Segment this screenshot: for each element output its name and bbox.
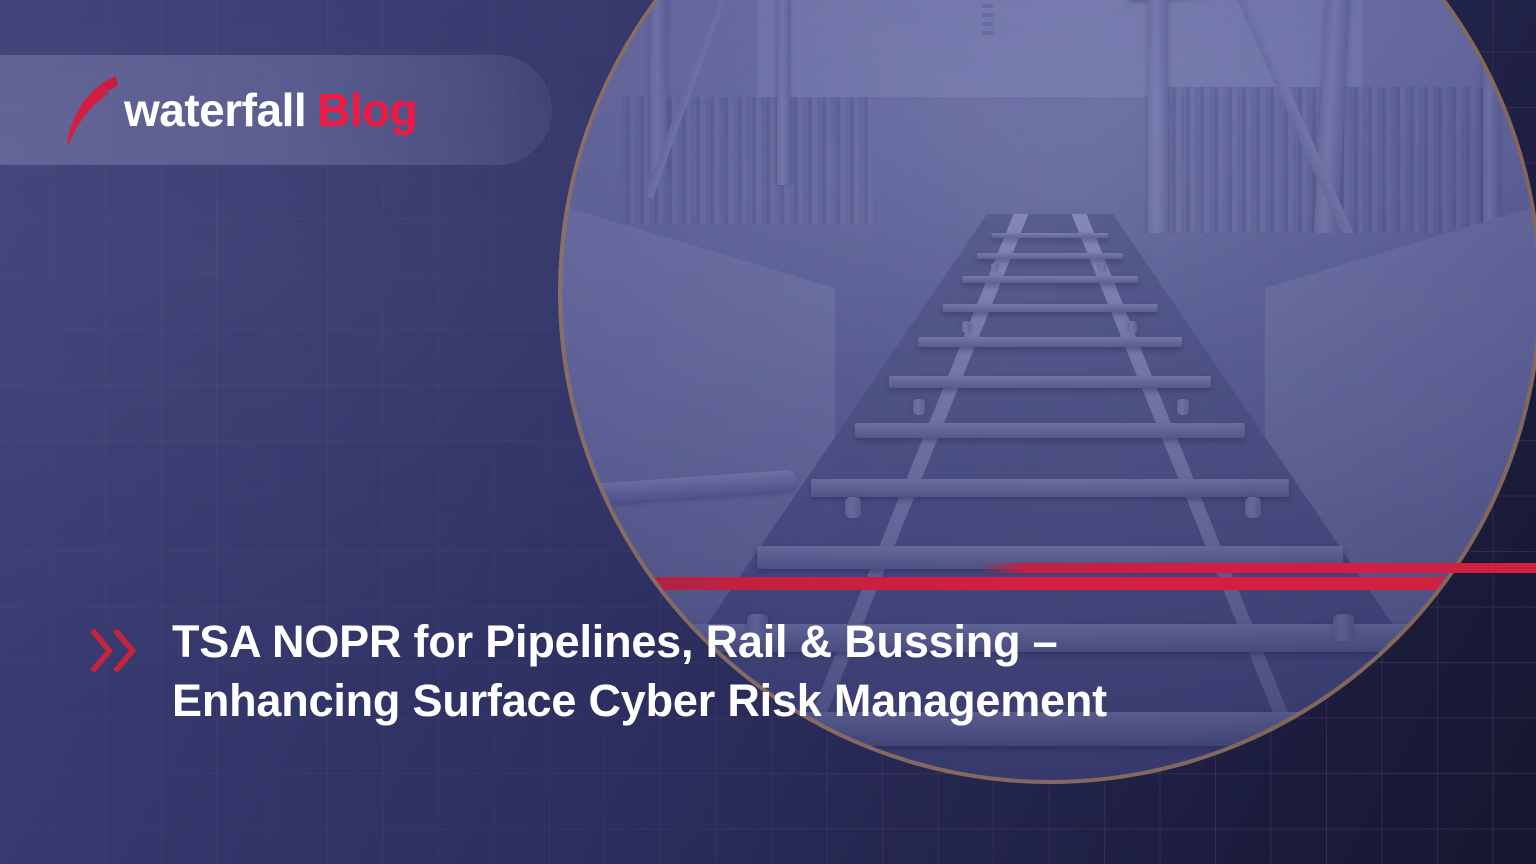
- page-title: TSA NOPR for Pipelines, Rail & Bussing –…: [172, 612, 1107, 731]
- waterfall-arrow-mark-icon: [64, 74, 118, 146]
- double-chevron-right-icon: [88, 628, 140, 674]
- brand-wordmark: waterfallBlog: [124, 87, 417, 133]
- brand-section: Blog: [317, 84, 417, 136]
- blog-banner: waterfallBlog TSA NOPR for Pipelines, Ra…: [0, 0, 1536, 864]
- accent-line-extension: [980, 563, 1536, 573]
- headline-line-2: Enhancing Surface Cyber Risk Management: [172, 675, 1107, 726]
- brand-logo-pill[interactable]: waterfallBlog: [0, 55, 552, 165]
- headline-line-1: TSA NOPR for Pipelines, Rail & Bussing –: [172, 616, 1058, 667]
- headline-block: TSA NOPR for Pipelines, Rail & Bussing –…: [88, 612, 1408, 731]
- hero-accent-line: [562, 577, 1536, 590]
- brand-name: waterfall: [124, 84, 306, 136]
